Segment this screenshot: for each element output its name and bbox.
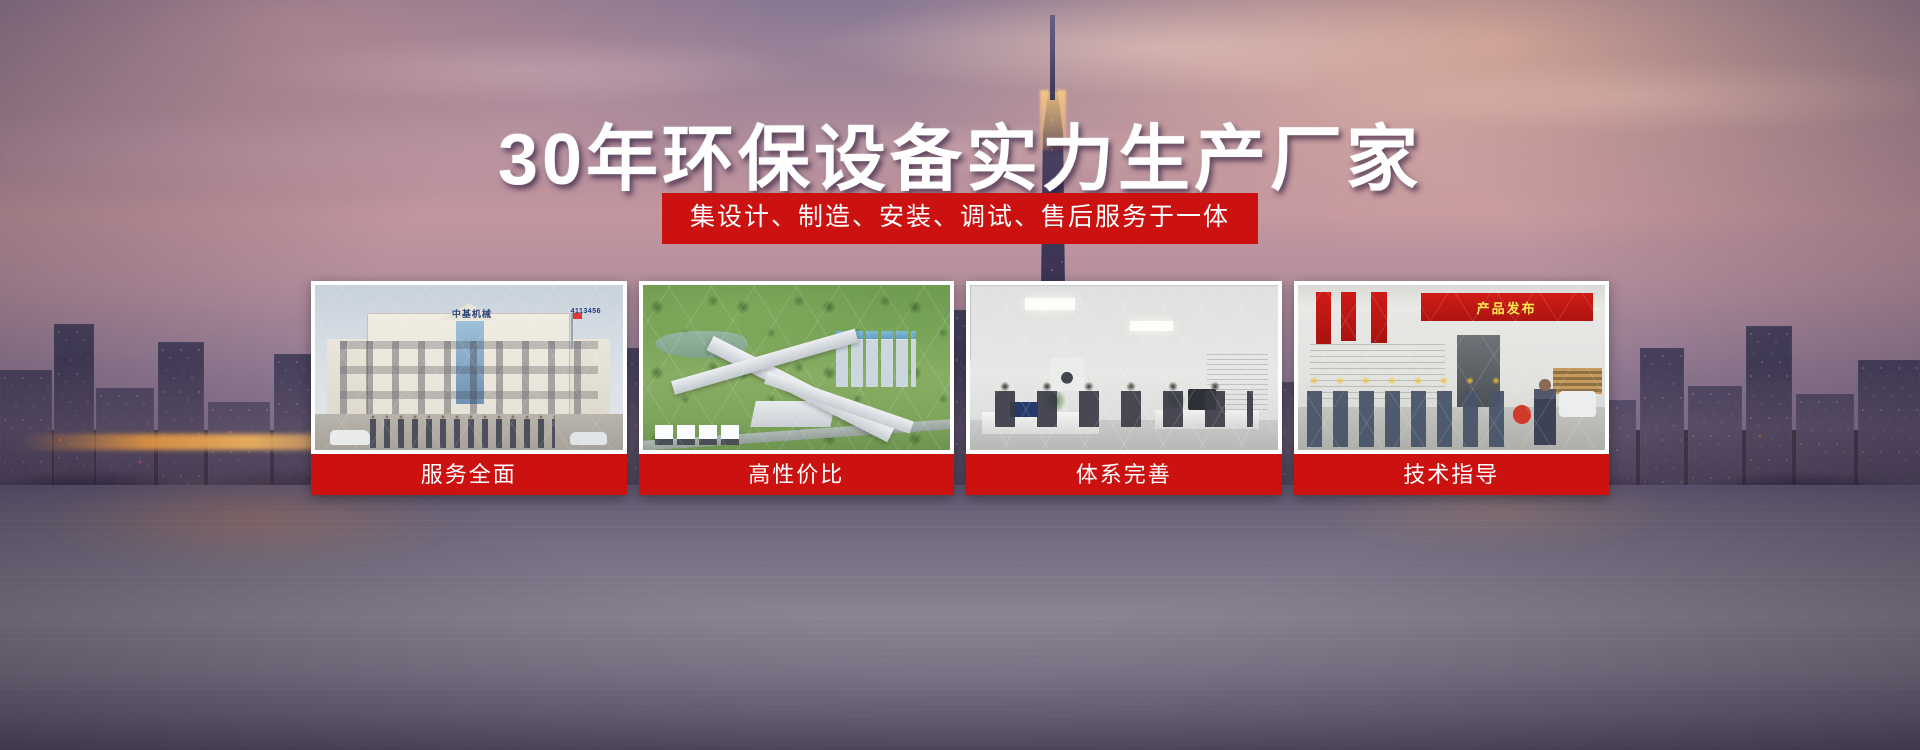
photo-watermark	[970, 285, 1278, 450]
vertical-red-banner	[1316, 292, 1331, 345]
card-photo-factory-workers: 产品发布	[1298, 285, 1606, 450]
banner-content: 30年环保设备实力生产厂家 集设计、制造、安装、调试、售后服务于一体 中基机械 …	[0, 0, 1920, 750]
feature-card[interactable]: 体系完善	[966, 281, 1282, 495]
card-label: 技术指导	[1294, 454, 1610, 495]
vertical-red-banner	[1341, 292, 1356, 342]
cable-reel	[1513, 405, 1531, 423]
card-label: 服务全面	[311, 454, 627, 495]
safety-helmet-icon	[1307, 371, 1504, 384]
hero-banner: 30年环保设备实力生产厂家 集设计、制造、安装、调试、售后服务于一体 中基机械 …	[0, 0, 1920, 750]
truck-row	[655, 425, 741, 445]
card-photo-office-team	[970, 285, 1278, 450]
feature-card[interactable]: 中基机械 4113456 服务全面	[311, 281, 627, 495]
parked-car-left	[330, 430, 370, 445]
worker-lineup	[1307, 381, 1504, 447]
supervisor	[1534, 389, 1556, 445]
building-sign-text: 中基机械	[423, 306, 521, 321]
card-photo-production-plant	[643, 285, 951, 450]
banner-headline: 30年环保设备实力生产厂家	[0, 100, 1920, 205]
card-photo-company-building: 中基机械 4113456	[315, 285, 623, 450]
vertical-red-banner	[1371, 292, 1386, 343]
card-label: 高性价比	[639, 454, 955, 495]
banner-subtitle: 集设计、制造、安装、调试、售后服务于一体	[662, 193, 1258, 244]
white-van	[1559, 391, 1596, 417]
flagpole-icon	[571, 313, 573, 349]
card-label: 体系完善	[966, 454, 1282, 495]
factory-banner-text: 产品发布	[1421, 293, 1593, 321]
parked-car-right	[570, 432, 607, 445]
feature-card[interactable]: 高性价比	[639, 281, 955, 495]
feature-card[interactable]: 产品发布 技术指导	[1294, 281, 1610, 495]
banner-subtitle-wrap: 集设计、制造、安装、调试、售后服务于一体	[0, 193, 1920, 244]
feature-card-row: 中基机械 4113456 服务全面	[311, 281, 1609, 495]
